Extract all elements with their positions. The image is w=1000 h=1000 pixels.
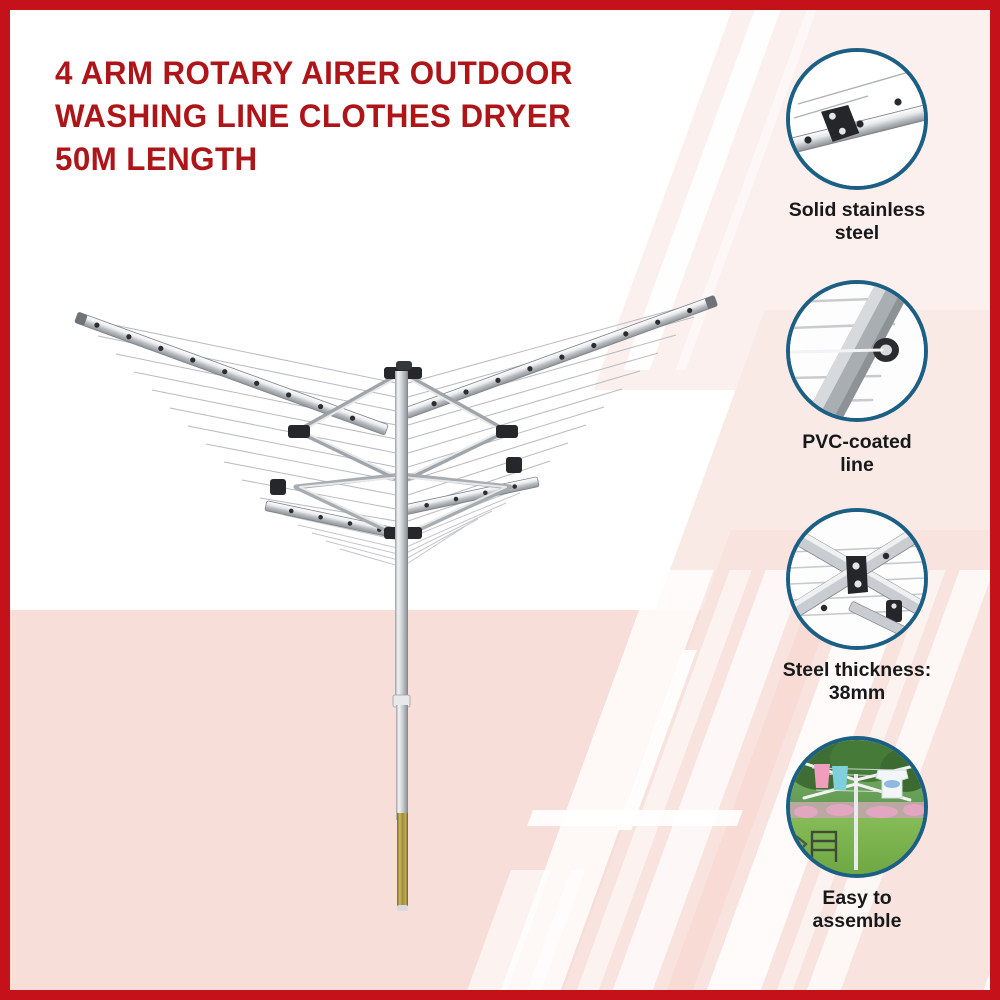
centre-bracket [846, 556, 868, 594]
feature-3-caption: Steel thickness: 38mm [742, 659, 972, 705]
pole-tip [397, 905, 408, 911]
feature-solid-stainless-steel[interactable]: Solid stainless steel [742, 48, 972, 245]
feature-easy-to-assemble[interactable]: Easy to assemble [742, 736, 972, 933]
feature-steel-thickness[interactable]: Steel thickness: 38mm [742, 508, 972, 705]
pole-upper [395, 371, 408, 701]
feature-3-image [786, 508, 928, 650]
feature-3-caption-line-2: 38mm [829, 682, 885, 704]
bracket-left [288, 425, 310, 438]
banner-stage: 4 ARM ROTARY AIRER OUTDOOR WASHING LINE … [10, 10, 990, 990]
product-image [40, 275, 740, 915]
headline-line-3: 50M LENGTH [55, 138, 682, 181]
feature-pvc-coated-line[interactable]: PVC-coated line [742, 280, 972, 477]
headline: 4 ARM ROTARY AIRER OUTDOOR WASHING LINE … [55, 52, 682, 181]
bracket-mid-right [506, 457, 522, 473]
washing-lines-right [408, 299, 712, 521]
feature-2-caption-line-2: line [840, 454, 874, 476]
feature-4-caption-line-1: Easy to [822, 887, 891, 909]
bracket-right [496, 425, 518, 438]
feature-2-caption: PVC-coated line [742, 431, 972, 477]
feature-4-caption-line-2: assemble [813, 910, 902, 932]
feature-1-caption-line-1: Solid stainless [789, 199, 926, 221]
feature-4-image [786, 736, 928, 878]
pole-lower [396, 705, 408, 820]
feature-2-caption-line-1: PVC-coated [802, 431, 911, 453]
feature-2-image [786, 280, 928, 422]
headline-line-2: WASHING LINE CLOTHES DRYER [55, 95, 682, 138]
feature-1-caption-line-2: steel [835, 222, 879, 244]
bracket-mid-left [270, 479, 286, 495]
product-banner: 4 ARM ROTARY AIRER OUTDOOR WASHING LINE … [0, 0, 1000, 1000]
feature-1-caption: Solid stainless steel [742, 199, 972, 245]
pole-ground-insert [397, 813, 408, 908]
feature-3-caption-line-1: Steel thickness: [783, 659, 931, 681]
headline-line-1: 4 ARM ROTARY AIRER OUTDOOR [55, 52, 682, 95]
arm-upper-left [75, 312, 389, 435]
feature-4-caption: Easy to assemble [742, 887, 972, 933]
feature-1-image [786, 48, 928, 190]
